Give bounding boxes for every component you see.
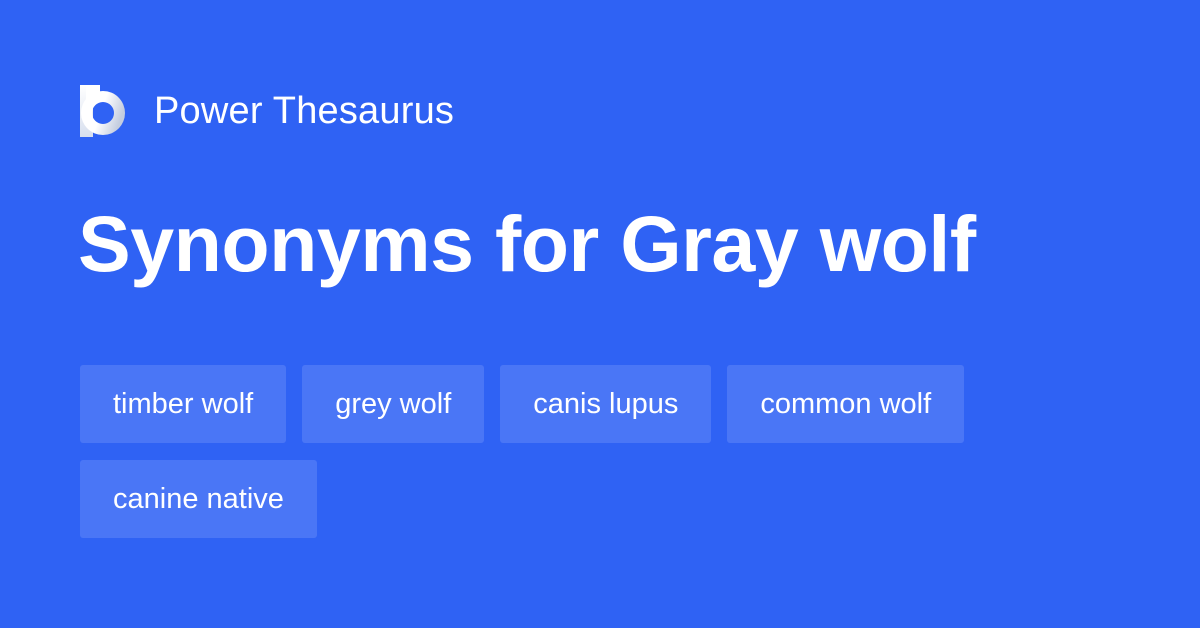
synonym-chip[interactable]: canis lupus (500, 365, 711, 443)
synonym-chip-list: timber wolf grey wolf canis lupus common… (80, 365, 1140, 538)
synonym-chip[interactable]: common wolf (727, 365, 964, 443)
brand-logo[interactable]: power thesaurus (80, 80, 454, 142)
synonym-chip[interactable]: timber wolf (80, 365, 286, 443)
synonym-chip[interactable]: canine native (80, 460, 317, 538)
social-share-card: power thesaurus Synonyms for Gray wolf t… (0, 0, 1200, 628)
synonym-chip[interactable]: grey wolf (302, 365, 484, 443)
brand-name: power thesaurus (154, 92, 454, 130)
power-thesaurus-b-logo-icon (80, 83, 130, 139)
page-title: Synonyms for Gray wolf (78, 196, 976, 292)
